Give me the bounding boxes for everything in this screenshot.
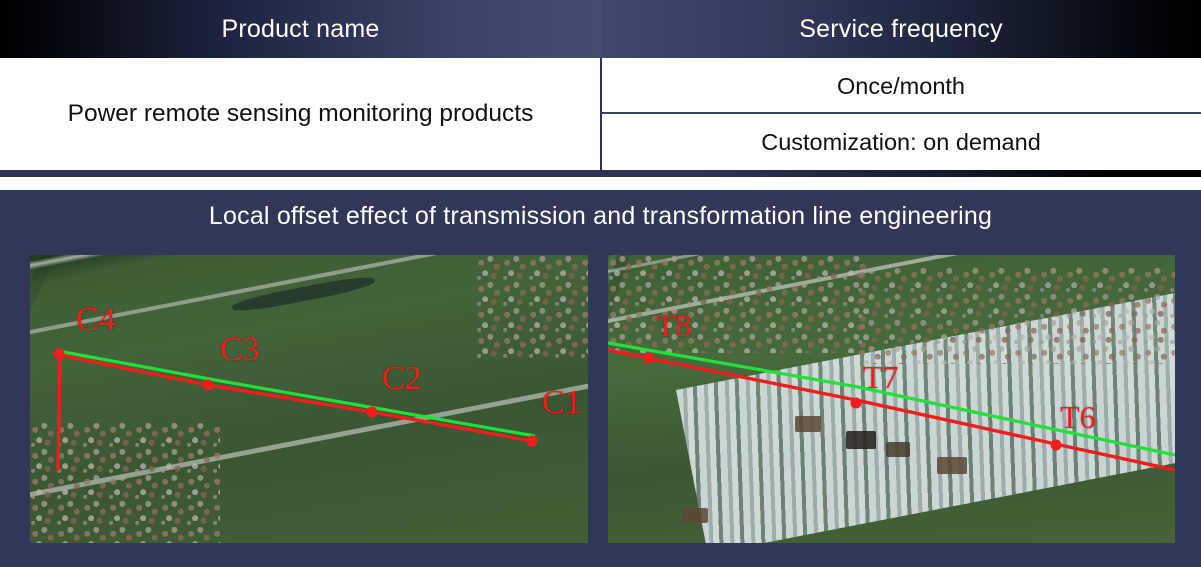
marker-label-c4: C4 xyxy=(76,303,116,337)
left-satellite-image: C4 C3 C2 C1 xyxy=(30,255,588,543)
column-header-service-frequency-label: Service frequency xyxy=(799,15,1003,44)
product-spec-table: Product name Service frequency Power rem… xyxy=(0,0,1201,176)
marker-label-t8: T8 xyxy=(656,309,692,341)
measured-route-line-left xyxy=(58,355,532,471)
tower-point-c4 xyxy=(54,349,65,360)
table-horizontal-divider xyxy=(601,112,1201,114)
marker-label-t7: T7 xyxy=(863,361,899,393)
tower-point-t7 xyxy=(851,398,862,409)
cell-product-name-value: Power remote sensing monitoring products xyxy=(68,100,534,128)
marker-label-t6: T6 xyxy=(1060,401,1096,433)
tower-point-c1 xyxy=(527,436,538,447)
slide-root: Product name Service frequency Power rem… xyxy=(0,0,1201,567)
table-header-row: Product name Service frequency xyxy=(0,0,1201,58)
left-line-overlay xyxy=(30,255,588,543)
tower-point-c3 xyxy=(203,380,214,391)
table-bottom-border xyxy=(0,170,1201,177)
figure-panel-title: Local offset effect of transmission and … xyxy=(0,202,1201,231)
column-header-product-name: Product name xyxy=(0,0,601,58)
tower-point-t6 xyxy=(1051,440,1062,451)
right-satellite-image: T8 T7 T6 xyxy=(608,255,1175,543)
marker-label-c1: C1 xyxy=(542,386,582,420)
figure-panel: Local offset effect of transmission and … xyxy=(0,190,1201,567)
table-vertical-divider xyxy=(600,58,602,170)
tower-point-c2 xyxy=(367,407,378,418)
cell-service-frequency-primary: Once/month xyxy=(601,58,1201,114)
column-header-service-frequency: Service frequency xyxy=(601,0,1201,58)
cell-service-frequency-primary-value: Once/month xyxy=(837,73,965,100)
cell-product-name: Power remote sensing monitoring products xyxy=(0,58,601,170)
tower-point-t8 xyxy=(644,353,655,364)
designed-route-line-left xyxy=(58,351,535,436)
cell-service-frequency-secondary: Customization: on demand xyxy=(601,114,1201,170)
marker-label-c3: C3 xyxy=(220,333,260,367)
marker-label-c2: C2 xyxy=(382,362,422,396)
cell-service-frequency-secondary-value: Customization: on demand xyxy=(761,129,1041,156)
column-header-product-name-label: Product name xyxy=(221,15,379,44)
